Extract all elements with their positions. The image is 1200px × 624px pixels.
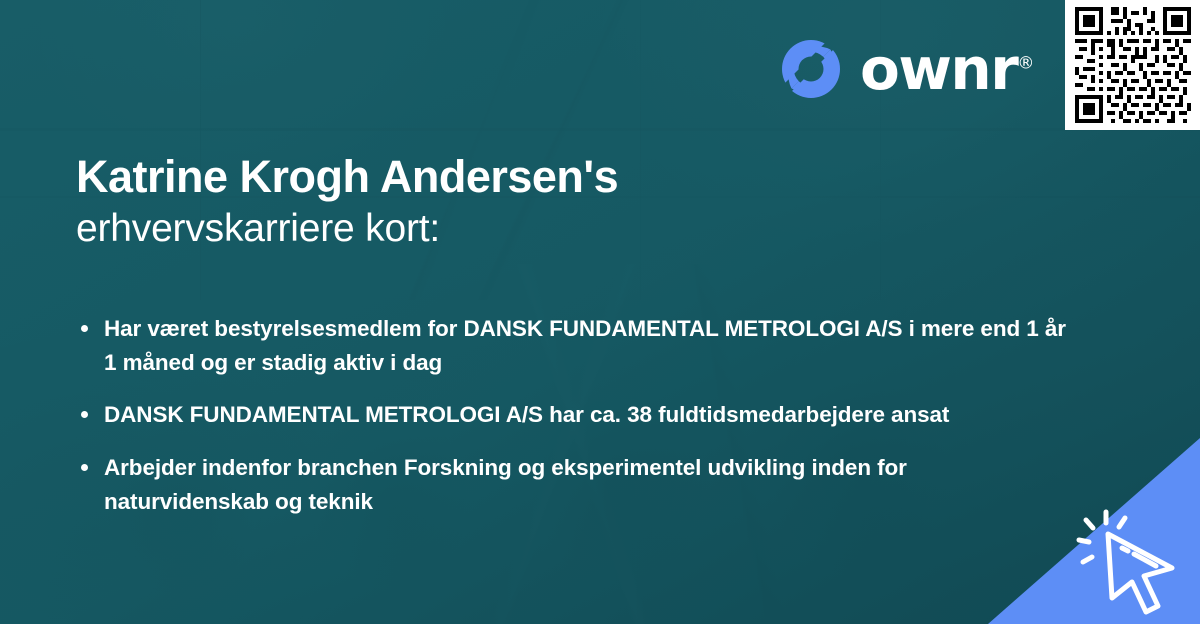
brand-wordmark: ownr®	[860, 40, 1034, 98]
bullet-icon	[81, 464, 88, 471]
list-item-text: DANSK FUNDAMENTAL METROLOGI A/S har ca. …	[104, 402, 949, 427]
facts-list: Har været bestyrelsesmedlem for DANSK FU…	[76, 312, 1066, 537]
click-cursor-icon	[1064, 494, 1194, 624]
page-title: Katrine Krogh Andersen's erhvervskarrier…	[76, 152, 1076, 253]
list-item-text: Har været bestyrelsesmedlem for DANSK FU…	[104, 316, 1066, 375]
qr-code-icon	[1075, 7, 1191, 123]
registered-trademark-icon: ®	[1017, 54, 1034, 74]
ownr-circle-logo-icon	[778, 36, 844, 102]
list-item: Arbejder indenfor branchen Forskning og …	[76, 451, 1066, 519]
bullet-icon	[81, 411, 88, 418]
page-title-line2: erhvervskarriere kort:	[76, 206, 1076, 253]
bullet-icon	[81, 325, 88, 332]
qr-code[interactable]	[1065, 0, 1200, 130]
brand-name: ownr	[860, 35, 1017, 103]
list-item: Har været bestyrelsesmedlem for DANSK FU…	[76, 312, 1066, 380]
career-card: ownr® Katrine Krogh Andersen's erhvervsk…	[0, 0, 1200, 624]
list-item-text: Arbejder indenfor branchen Forskning og …	[104, 455, 907, 514]
list-item: DANSK FUNDAMENTAL METROLOGI A/S har ca. …	[76, 398, 1066, 432]
page-title-line1: Katrine Krogh Andersen's	[76, 152, 1076, 202]
brand-logo[interactable]: ownr®	[778, 36, 1034, 102]
